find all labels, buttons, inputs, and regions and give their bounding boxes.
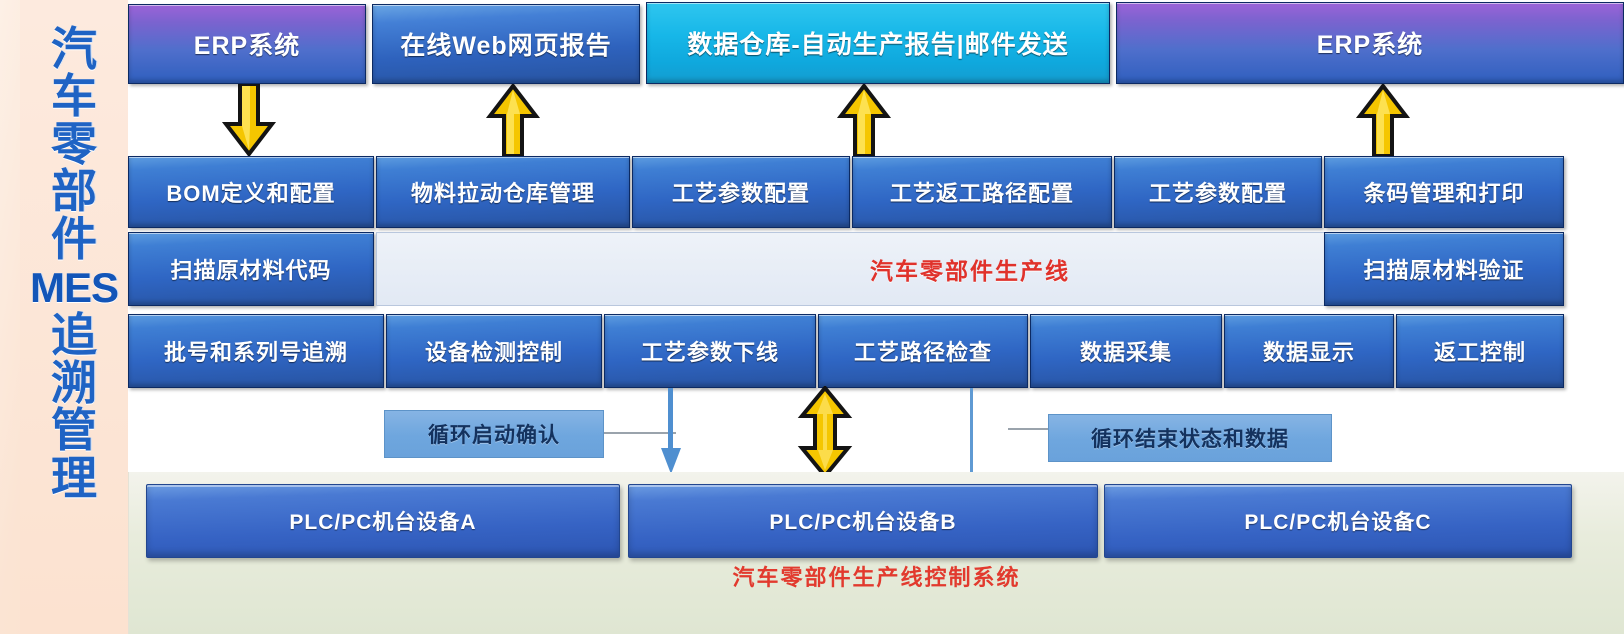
top-box-web-report[interactable]: 在线Web网页报告 [372,4,640,84]
arrow-up-process-to-warehouse-icon [835,84,893,156]
sidebar-title-char-3: 部 [51,168,97,215]
sidebar-title-char-7: 溯 [51,360,97,407]
diagram-canvas: ERP系统 在线Web网页报告 数据仓库-自动生产报告|邮件发送 ERP系统 B… [128,0,1624,634]
exec-box-rework-control[interactable]: 返工控制 [1396,314,1564,388]
vertical-connector-cycle-end [970,388,973,474]
sidebar-title-char-8: 管 [51,407,97,454]
top-box-erp-right[interactable]: ERP系统 [1116,2,1624,84]
sidebar-title-char-0: 汽 [51,26,97,73]
sidebar-title-char-5: MES [30,263,118,313]
sidebar-title-char-4: 件 [51,216,97,263]
arrow-up-material-to-web-icon [484,84,542,156]
config-box-process-parameter-2[interactable]: 工艺参数配置 [1114,156,1322,228]
config-box-bom-definition[interactable]: BOM定义和配置 [128,156,374,228]
config-box-barcode-print[interactable]: 条码管理和打印 [1324,156,1564,228]
sidebar-title-band: 汽 车 零 部 件 MES 追 溯 管 理 [0,0,128,634]
top-box-erp-left[interactable]: ERP系统 [128,4,366,84]
callout-cycle-start-confirm[interactable]: 循环启动确认 [384,410,604,458]
config-box-process-parameter-1[interactable]: 工艺参数配置 [632,156,850,228]
plc-box-device-b[interactable]: PLC/PC机台设备B [628,484,1098,558]
diagram-root: 汽 车 零 部 件 MES 追 溯 管 理 ERP系统 在线Web网页报告 数据… [0,0,1624,634]
sidebar-title-char-1: 车 [51,73,97,120]
sidebar-title-char-6: 追 [51,312,97,359]
sidebar-title-char-9: 理 [51,455,97,502]
plc-box-device-a[interactable]: PLC/PC机台设备A [146,484,620,558]
sidebar-title-char-2: 零 [51,121,97,168]
top-box-data-warehouse[interactable]: 数据仓库-自动生产报告|邮件发送 [646,2,1110,84]
production-line-label: 汽车零部件生产线 [870,252,1070,286]
line-box-scan-raw-material-verify[interactable]: 扫描原材料验证 [1324,232,1564,306]
exec-box-lot-serial-trace[interactable]: 批号和系列号追溯 [128,314,384,388]
arrow-bidirectional-plc-b-icon [796,386,854,478]
arrow-down-erp-to-bom-icon [220,84,278,156]
arrow-down-cycle-start-icon [659,388,683,476]
line-box-scan-raw-material-code[interactable]: 扫描原材料代码 [128,232,374,306]
plc-box-device-c[interactable]: PLC/PC机台设备C [1104,484,1572,558]
arrow-up-barcode-to-erp-icon [1354,84,1412,156]
exec-box-equipment-detection-control[interactable]: 设备检测控制 [386,314,602,388]
exec-box-process-path-check[interactable]: 工艺路径检查 [818,314,1028,388]
sidebar-vertical-title: 汽 车 零 部 件 MES 追 溯 管 理 [26,26,122,612]
callout-cycle-end-status-data[interactable]: 循环结束状态和数据 [1048,414,1332,462]
exec-box-process-parameter-download[interactable]: 工艺参数下线 [604,314,816,388]
config-box-material-pull-warehouse[interactable]: 物料拉动仓库管理 [376,156,630,228]
exec-box-data-collection[interactable]: 数据采集 [1030,314,1222,388]
exec-box-data-display[interactable]: 数据显示 [1224,314,1394,388]
config-box-rework-path[interactable]: 工艺返工路径配置 [852,156,1112,228]
control-system-caption: 汽车零部件生产线控制系统 [129,560,1624,592]
